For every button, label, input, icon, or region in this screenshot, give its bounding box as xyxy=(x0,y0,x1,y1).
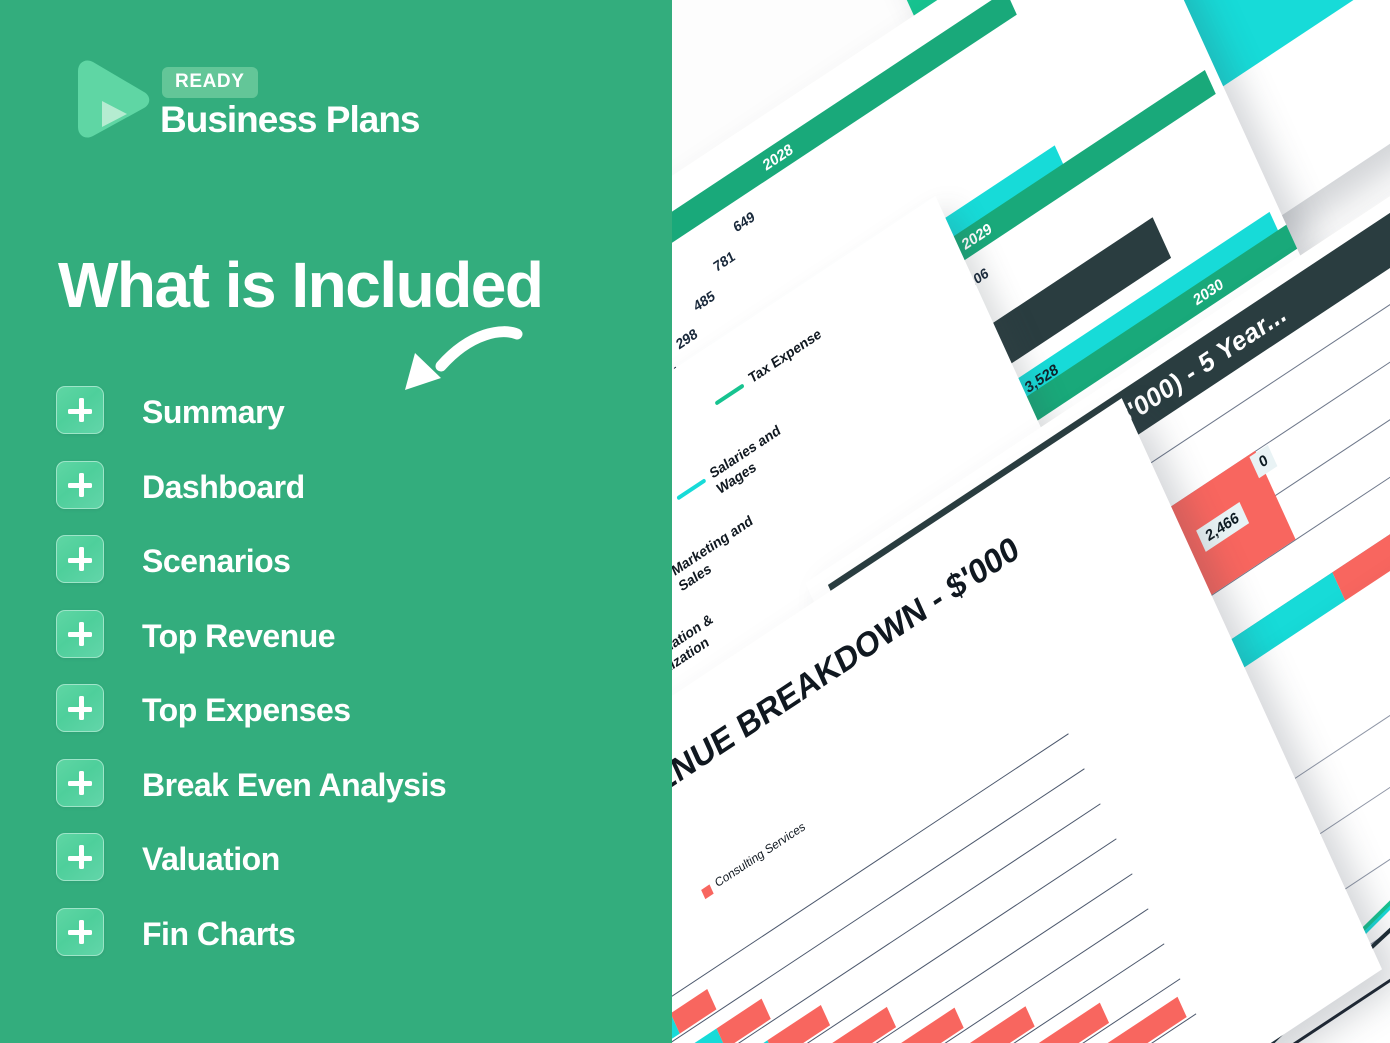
feature-list: Summary Dashboard Scenarios Top Revenue … xyxy=(56,386,616,982)
ready-badge: READY xyxy=(162,67,258,98)
brand-lockup[interactable]: READY Business Plans xyxy=(70,55,430,147)
feature-row-summary[interactable]: Summary xyxy=(56,386,616,461)
plus-icon[interactable] xyxy=(56,684,104,732)
plus-icon[interactable] xyxy=(56,759,104,807)
feature-label: Break Even Analysis xyxy=(142,767,446,804)
cell-2028-0: 649 xyxy=(731,208,757,236)
feature-row-scenarios[interactable]: Scenarios xyxy=(56,535,616,610)
breakdown-legend-consulting: Consulting Services xyxy=(713,819,807,890)
cell-2028-1: 781 xyxy=(711,247,737,275)
left-green-panel: READY Business Plans What is Included Su… xyxy=(0,0,672,1043)
feature-label: Fin Charts xyxy=(142,916,295,953)
feature-label: Summary xyxy=(142,394,284,431)
cell-2028-2: 485 xyxy=(691,287,717,315)
feature-row-fin-charts[interactable]: Fin Charts xyxy=(56,908,616,983)
plus-icon[interactable] xyxy=(56,610,104,658)
stacked-seg xyxy=(767,1005,830,1043)
breakdown-legend-marker-consulting xyxy=(701,884,714,899)
feature-label: Top Revenue xyxy=(142,618,335,655)
feature-row-valuation[interactable]: Valuation xyxy=(56,833,616,908)
legend-label-marketing: Marketing and Sales xyxy=(669,501,779,595)
feature-label: Top Expenses xyxy=(142,692,351,729)
cell-2028-3: 298 xyxy=(673,325,699,353)
legend-label-salaries: Salaries and Wages xyxy=(707,406,813,498)
legend-marker-salaries xyxy=(676,478,706,500)
feature-label: Dashboard xyxy=(142,469,305,506)
play-triangle-logo-icon xyxy=(70,57,152,141)
page-title: What is Included xyxy=(58,248,542,322)
feature-row-top-revenue[interactable]: Top Revenue xyxy=(56,610,616,685)
plus-icon[interactable] xyxy=(56,833,104,881)
plus-icon[interactable] xyxy=(56,461,104,509)
plus-icon[interactable] xyxy=(56,535,104,583)
feature-row-break-even-analysis[interactable]: Break Even Analysis xyxy=(56,759,616,834)
brand-name: Business Plans xyxy=(160,99,420,141)
feature-label: Valuation xyxy=(142,841,280,878)
legend-marker-tax xyxy=(715,383,745,405)
plus-icon[interactable] xyxy=(56,908,104,956)
feature-row-top-expenses[interactable]: Top Expenses xyxy=(56,684,616,759)
feature-row-dashboard[interactable]: Dashboard xyxy=(56,461,616,536)
toc-red-block xyxy=(1348,0,1390,32)
plus-icon[interactable] xyxy=(56,386,104,434)
feature-label: Scenarios xyxy=(142,543,290,580)
poster-canvas: Name Table of Contents 128.9 2028 649 78… xyxy=(0,0,1390,1043)
legend-label-tax: Tax Expense xyxy=(746,325,823,386)
